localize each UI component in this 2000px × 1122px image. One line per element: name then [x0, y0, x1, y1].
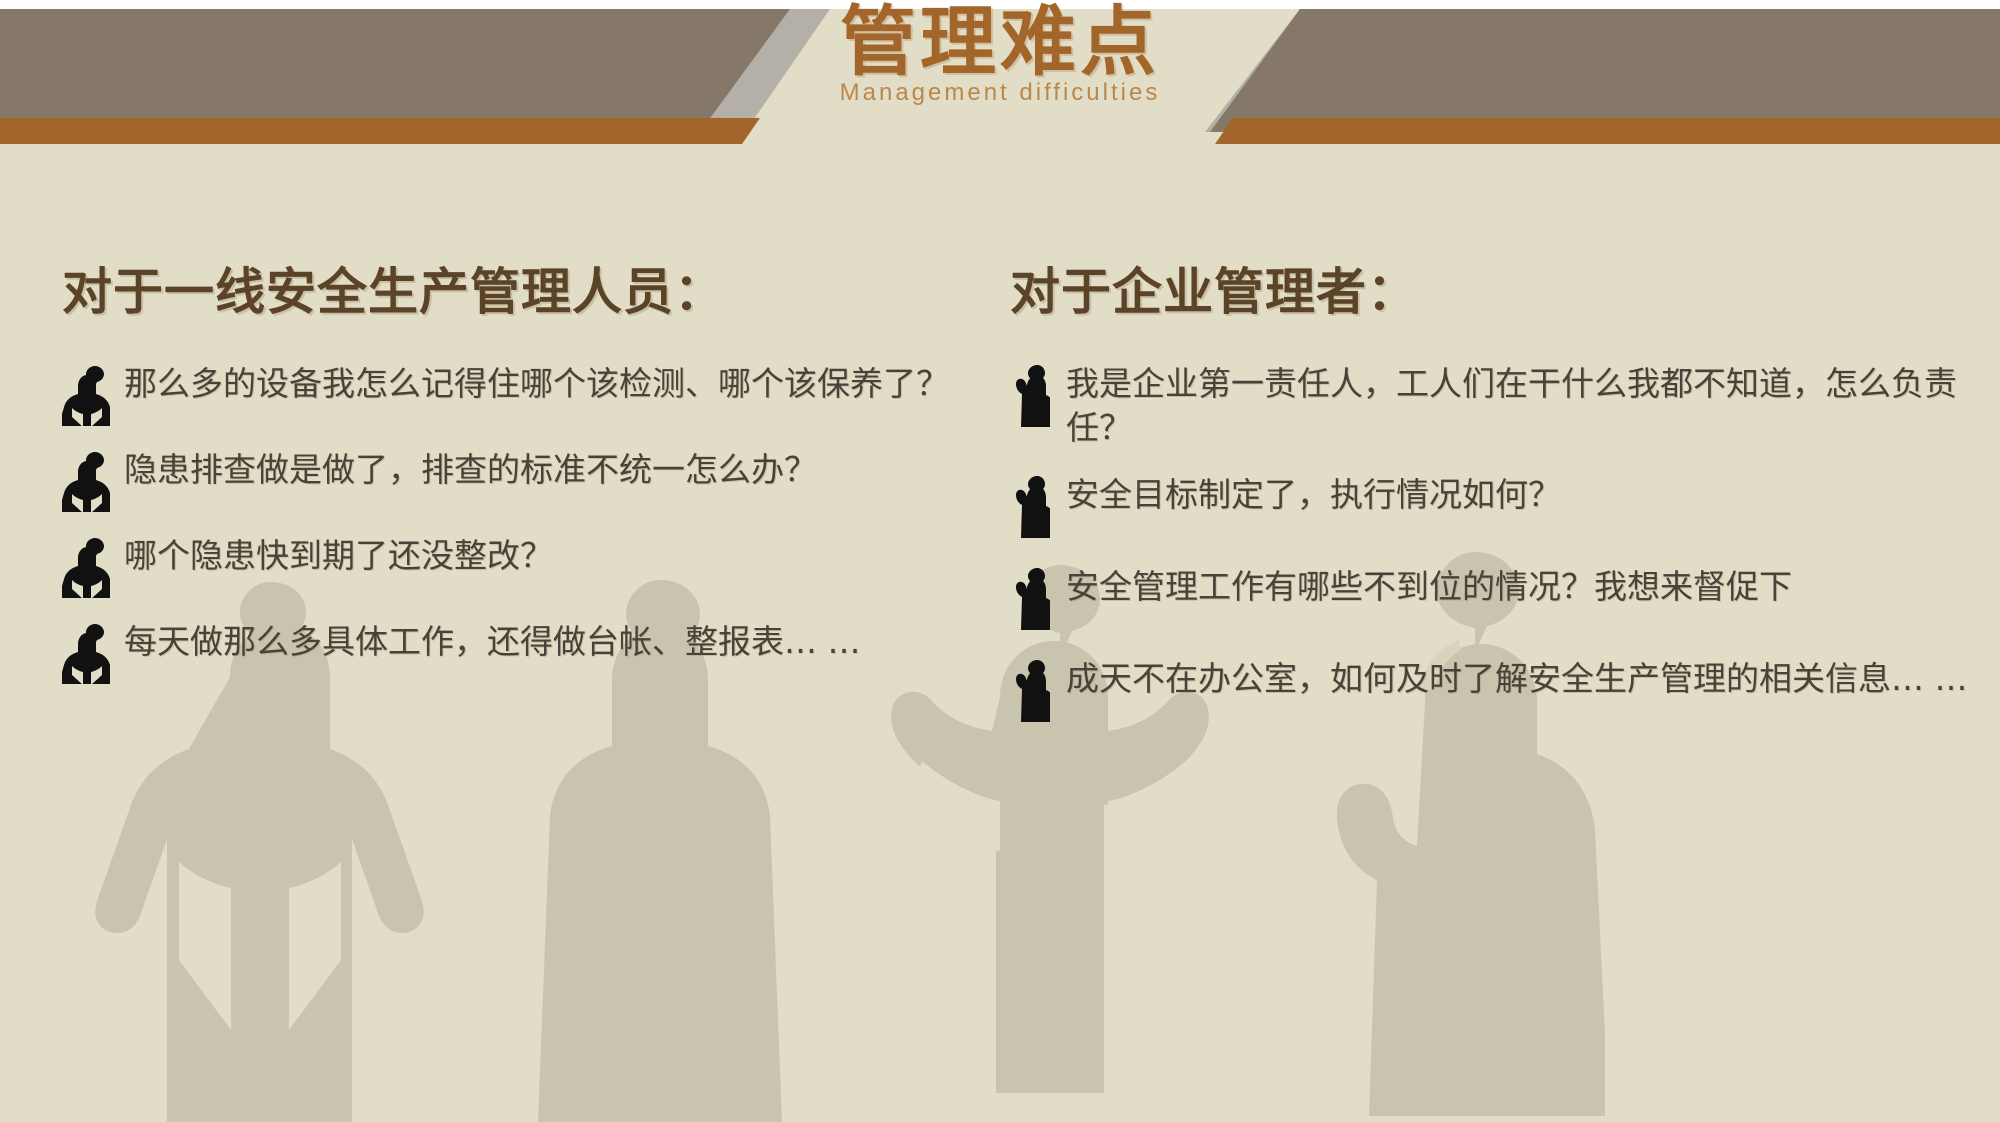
list-item[interactable]: 我是企业第一责任人，工人们在干什么我都不知道，怎么负责任？ — [1010, 362, 1970, 449]
person-on-phone-speech-icon — [1010, 475, 1050, 541]
person-on-phone-speech-icon — [1010, 659, 1050, 725]
list-item[interactable]: 哪个隐患快到期了还没整改？ — [62, 534, 992, 598]
banner-left-dark-block — [0, 9, 790, 132]
list-item[interactable]: 隐患排查做是做了，排查的标准不统一怎么办？ — [62, 448, 992, 512]
bullet-text: 我是企业第一责任人，工人们在干什么我都不知道，怎么负责任？ — [1066, 362, 1970, 449]
person-on-phone-speech-icon — [1010, 364, 1050, 430]
bullet-text: 那么多的设备我怎么记得住哪个该检测、哪个该保养了？ — [124, 362, 949, 406]
bullet-text: 成天不在办公室，如何及时了解安全生产管理的相关信息… … — [1066, 657, 1968, 701]
person-hands-on-hips-speech-icon — [62, 622, 110, 684]
bullet-text: 安全目标制定了，执行情况如何？ — [1066, 473, 1561, 517]
column-enterprise-managers: 对于企业管理者： 我是企业第一责任人，工人们在干什么我都不知道，怎么负责任？ — [1010, 132, 1970, 749]
bullet-text: 安全管理工作有哪些不到位的情况？我想来督促下 — [1066, 565, 1792, 609]
bullet-text: 哪个隐患快到期了还没整改？ — [124, 534, 553, 578]
list-item[interactable]: 每天做那么多具体工作，还得做台帐、整报表… … — [62, 620, 992, 684]
bullet-text: 隐患排查做是做了，排查的标准不统一怎么办？ — [124, 448, 817, 492]
list-item[interactable]: 安全管理工作有哪些不到位的情况？我想来督促下 — [1010, 565, 1970, 633]
list-item[interactable]: 成天不在办公室，如何及时了解安全生产管理的相关信息… … — [1010, 657, 1970, 725]
top-white-sliver — [0, 0, 2000, 9]
content-area: 对于一线安全生产管理人员： — [0, 132, 2000, 1122]
column-frontline-safety-managers: 对于一线安全生产管理人员： — [62, 132, 992, 706]
banner-right-dark-block — [1210, 9, 2000, 132]
person-on-phone-speech-icon — [1010, 567, 1050, 633]
bullet-list-left: 那么多的设备我怎么记得住哪个该检测、哪个该保养了？ — [62, 362, 992, 684]
column-heading-right: 对于企业管理者： — [1010, 132, 1970, 324]
header-banner — [0, 9, 2000, 132]
bullet-list-right: 我是企业第一责任人，工人们在干什么我都不知道，怎么负责任？ 安全目标制定了，执行… — [1010, 362, 1970, 725]
list-item[interactable]: 那么多的设备我怎么记得住哪个该检测、哪个该保养了？ — [62, 362, 992, 426]
person-hands-on-hips-speech-icon — [62, 450, 110, 512]
person-hands-on-hips-speech-icon — [62, 364, 110, 426]
person-hands-on-hips-speech-icon — [62, 536, 110, 598]
bullet-text: 每天做那么多具体工作，还得做台帐、整报表… … — [124, 620, 861, 664]
list-item[interactable]: 安全目标制定了，执行情况如何？ — [1010, 473, 1970, 541]
slide-canvas: 管理难点 Management difficulties — [0, 0, 2000, 1122]
column-heading-left: 对于一线安全生产管理人员： — [62, 132, 992, 324]
